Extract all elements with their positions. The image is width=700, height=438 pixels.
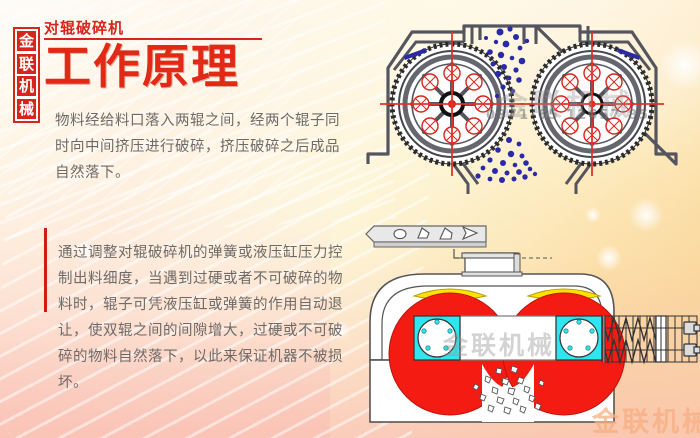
cross-section-svg <box>364 8 696 204</box>
text-column: 金 联 机 械 对辊破碎机 工作原理 物料经给料口落入两辊之间，经两个辊子同时向… <box>0 0 360 438</box>
discharge-legs <box>368 154 598 194</box>
bearing-block-right <box>556 316 602 360</box>
logo-char-4: 械 <box>17 99 36 119</box>
page-title: 工作原理 <box>44 42 240 94</box>
bearing-block-left <box>414 316 460 360</box>
paragraph-two: 通过调整对辊破碎机的弹簧或液压缸压力控制出料细度，当遇到过硬或者不可破碎的物料时… <box>58 240 348 396</box>
roller-right <box>520 32 664 176</box>
paragraph-two-accent-bar <box>44 228 47 312</box>
crusher-schematic-diagram <box>362 212 700 438</box>
poster-canvas: 金 联 机 械 对辊破碎机 工作原理 物料经给料口落入两辊之间，经两个辊子同时向… <box>0 0 700 438</box>
adjust-bolt <box>684 322 700 356</box>
logo-char-1: 金 <box>17 31 36 51</box>
paragraph-one: 物料经给料口落入两辊之间，经两个辊子同时向中间挤压进行破碎，挤压破碎之后成品自然… <box>55 108 347 186</box>
feeder-chute <box>366 226 552 258</box>
page-subtitle: 对辊破碎机 <box>44 17 124 38</box>
brand-logo: 金 联 机 械 <box>13 27 40 123</box>
logo-char-2: 联 <box>17 54 36 74</box>
crushing-gap <box>460 316 556 360</box>
schematic-svg <box>362 212 700 438</box>
logo-char-3: 机 <box>17 76 36 96</box>
crusher-cross-section-diagram <box>364 8 696 204</box>
